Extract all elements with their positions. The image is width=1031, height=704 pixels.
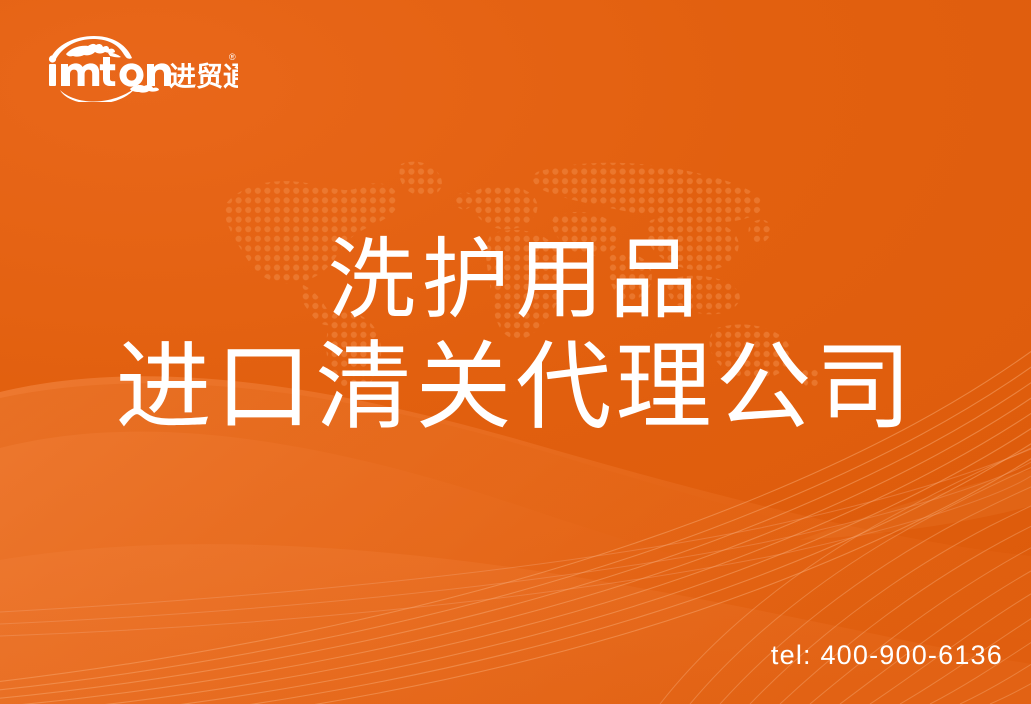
brand-logo[interactable]: 进贸通 ® [38,32,238,102]
logo-wordmark [49,55,171,86]
contact-phone[interactable]: tel: 400-900-6136 [771,640,1003,671]
logo-chinese-name: 进贸通 [169,62,238,93]
promo-banner: 进贸通 ® 洗护用品 进口清关代理公司 tel: 400-900-6136 [0,0,1031,704]
globe-icon [50,36,132,62]
wave-decoration [0,0,1031,704]
registered-mark-icon: ® [229,52,236,62]
swoosh-icon [60,85,159,102]
